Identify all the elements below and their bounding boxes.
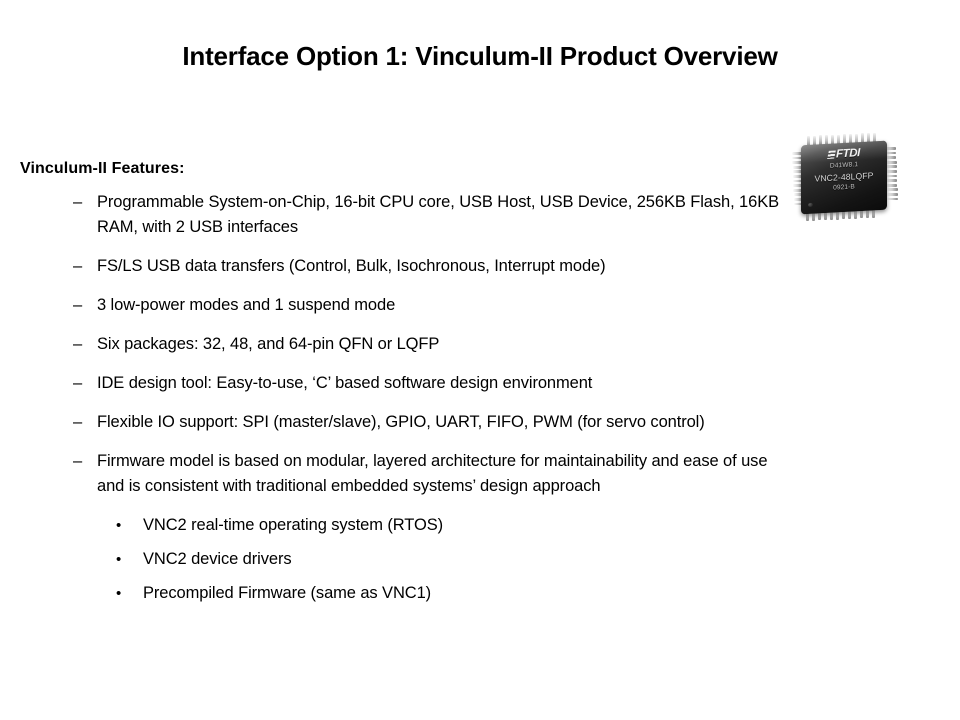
- chip-pin: [886, 175, 897, 178]
- list-item-label: Flexible IO support: SPI (master/slave),…: [97, 413, 705, 431]
- dash-bullet-icon: –: [73, 332, 82, 357]
- list-item: • VNC2 device drivers: [20, 547, 780, 572]
- list-item-label: VNC2 real-time operating system (RTOS): [143, 516, 443, 534]
- chip-pin: [886, 179, 897, 182]
- chip-package-image: FTDI D41W8.1 VNC2-48LQFP 0921-B: [781, 126, 909, 232]
- dash-bullet-icon: –: [73, 449, 82, 474]
- list-item: – FS/LS USB data transfers (Control, Bul…: [20, 254, 780, 279]
- dot-bullet-icon: •: [116, 581, 121, 606]
- dot-bullet-icon: •: [116, 513, 121, 538]
- chip-pin: [886, 170, 897, 173]
- list-item: – Firmware model is based on modular, la…: [20, 449, 780, 499]
- list-item: • VNC2 real-time operating system (RTOS): [20, 513, 780, 538]
- page-title: Interface Option 1: Vinculum-II Product …: [0, 40, 960, 72]
- chip-pin: [886, 165, 897, 168]
- dash-bullet-icon: –: [73, 410, 82, 435]
- features-heading: Vinculum-II Features:: [20, 158, 780, 180]
- dash-bullet-icon: –: [73, 371, 82, 396]
- list-item: – IDE design tool: Easy-to-use, ‘C’ base…: [20, 371, 780, 396]
- list-item-label: 3 low-power modes and 1 suspend mode: [97, 296, 395, 314]
- chip-pin: [886, 161, 897, 164]
- list-item: – 3 low-power modes and 1 suspend mode: [20, 293, 780, 318]
- features-sub-bullet-list: • VNC2 real-time operating system (RTOS)…: [20, 513, 780, 606]
- list-item-label: IDE design tool: Easy-to-use, ‘C’ based …: [97, 374, 592, 392]
- dash-bullet-icon: –: [73, 190, 82, 215]
- chip-markings: FTDI D41W8.1 VNC2-48LQFP 0921-B: [801, 146, 887, 195]
- list-item: – Six packages: 32, 48, and 64-pin QFN o…: [20, 332, 780, 357]
- chip-pin: [886, 184, 897, 187]
- dot-bullet-icon: •: [116, 547, 121, 572]
- dash-bullet-icon: –: [73, 293, 82, 318]
- chip-pin: [887, 193, 898, 196]
- list-item-label: Precompiled Firmware (same as VNC1): [143, 584, 431, 602]
- chip-body: FTDI D41W8.1 VNC2-48LQFP 0921-B: [801, 141, 887, 215]
- list-item-label: Programmable System-on-Chip, 16-bit CPU …: [97, 193, 779, 236]
- features-bullet-list: – Programmable System-on-Chip, 16-bit CP…: [20, 190, 780, 499]
- list-item-label: Firmware model is based on modular, laye…: [97, 452, 767, 495]
- chip-illustration: FTDI D41W8.1 VNC2-48LQFP 0921-B: [781, 126, 909, 232]
- ftdi-brand-text: FTDI: [836, 147, 860, 160]
- list-item: – Flexible IO support: SPI (master/slave…: [20, 410, 780, 435]
- chip-pin: [887, 198, 898, 201]
- list-item-label: FS/LS USB data transfers (Control, Bulk,…: [97, 257, 606, 275]
- chip-pin: [887, 188, 898, 191]
- dash-bullet-icon: –: [73, 254, 82, 279]
- list-item: • Precompiled Firmware (same as VNC1): [20, 581, 780, 606]
- list-item-label: Six packages: 32, 48, and 64-pin QFN or …: [97, 335, 439, 353]
- chip-pin: [885, 156, 896, 159]
- list-item-label: VNC2 device drivers: [143, 550, 292, 568]
- list-item: – Programmable System-on-Chip, 16-bit CP…: [20, 190, 780, 240]
- chip-pin1-marker-icon: [808, 203, 813, 207]
- features-content: Vinculum-II Features: – Programmable Sys…: [20, 158, 780, 606]
